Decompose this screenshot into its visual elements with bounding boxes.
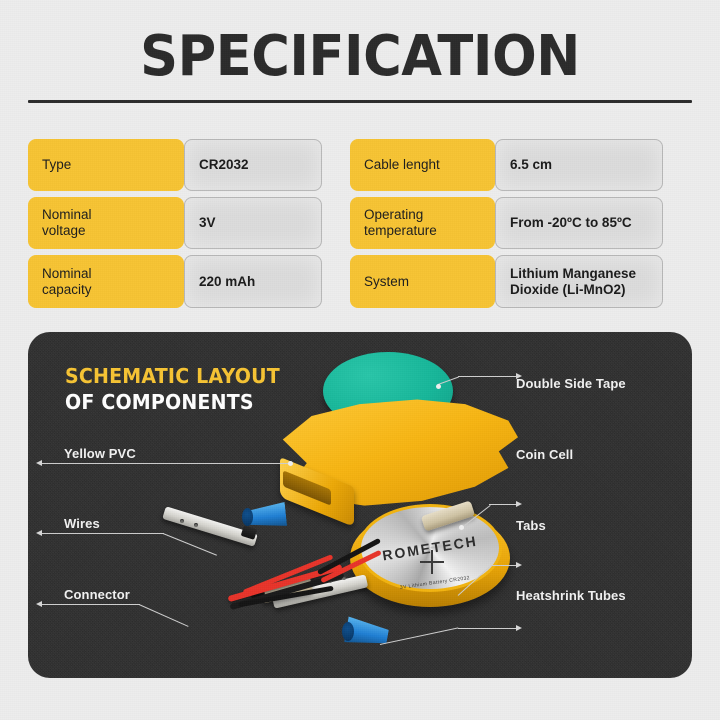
anchor-dot-double-side-tape [436,384,441,389]
tab-hole [180,519,184,523]
spec-key-type: Type [28,139,184,191]
schematic-heading: SCHEMATIC LAYOUT OF COMPONENTS [65,363,280,415]
spec-value-cable-lenght: 6.5 cm [495,139,663,191]
schematic-heading-line2: OF COMPONENTS [65,389,280,415]
spec-value-nominal-voltage: 3V [184,197,322,249]
schematic-panel: SCHEMATIC LAYOUT OF COMPONENTS ROMETECH … [28,332,692,678]
anchor-dot-coin-cell [459,525,464,530]
callout-label-connector: Connector [64,587,130,602]
anchor-dot-yellow-pvc [288,461,293,466]
title-divider [28,100,692,103]
heatshrink-tube-blue-right-mouth [342,622,354,641]
spec-key-nominal-voltage: Nominal voltage [28,197,184,249]
spec-key-nominal-capacity: Nominal capacity [28,255,184,308]
spec-value-type: CR2032 [184,139,322,191]
page-title: SPECIFICATION [22,24,699,90]
column-gap [322,197,350,249]
callout-label-coin-cell: Coin Cell [516,447,573,462]
callout-label-heatshrink-tubes: Heatshrink Tubes [516,588,626,603]
spec-key-system: System [350,255,495,308]
specification-page: SPECIFICATION Type CR2032 Cable lenght 6… [0,0,720,720]
spec-value-nominal-capacity: 220 mAh [184,255,322,308]
column-gap [322,255,350,308]
callout-label-tabs: Tabs [516,518,546,533]
column-gap [322,139,350,191]
specification-table: Type CR2032 Cable lenght 6.5 cm Nominal … [28,139,692,308]
coin-cell-plus-icon [420,550,444,574]
schematic-heading-line1: SCHEMATIC LAYOUT [65,363,280,389]
tab-hole [194,523,198,527]
callout-label-double-side-tape: Double Side Tape [516,376,626,391]
callout-label-wires: Wires [64,516,100,531]
spec-key-cable-lenght: Cable lenght [350,139,495,191]
callout-label-yellow-pvc: Yellow PVC [64,446,136,461]
spec-value-operating-temperature: From -20ºC to 85ºC [495,197,663,249]
heatshrink-tube-blue-left-mouth [242,508,253,526]
spec-key-operating-temperature: Operating temperature [350,197,495,249]
spec-value-system: Lithium Manganese Dioxide (Li-MnO2) [495,255,663,308]
